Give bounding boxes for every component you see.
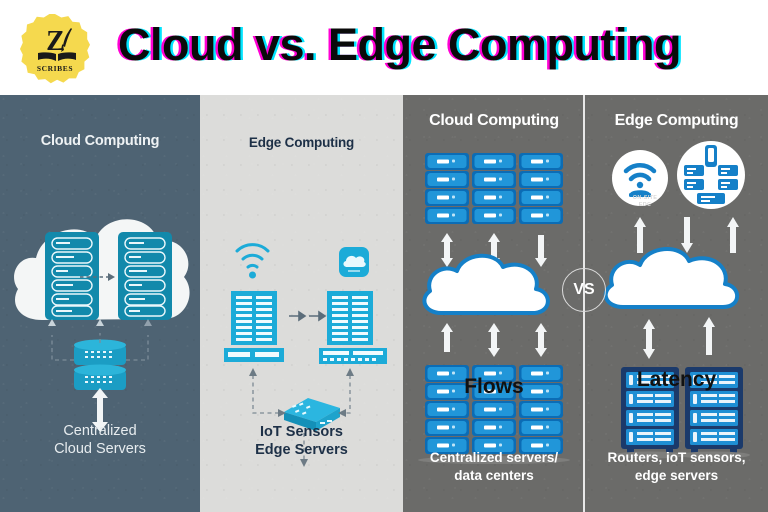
- panel-3-caption: Centralized servers/ data centers: [403, 449, 585, 484]
- panel-3-caption-line1: Centralized servers/: [403, 449, 585, 466]
- dashed-arrowheads: [48, 319, 152, 326]
- panel-4-caption: Routers, ioT sensors, edge servers: [585, 449, 768, 484]
- scribes-logo-badge: Z SCRIBES: [20, 14, 90, 84]
- panel-2-caption-line1: IoT Sensors: [200, 423, 403, 442]
- server-rack-left: [224, 291, 284, 362]
- edge-device-icon: [677, 141, 745, 209]
- panel-cloud-computing-illustration: Cloud Computing: [0, 95, 200, 512]
- server-rack-left: [45, 232, 99, 320]
- flows-cloud-label: Flows: [403, 375, 585, 399]
- server-rack-right: [118, 232, 172, 320]
- cloud-square-icon: [339, 247, 369, 277]
- upper-flow-arrows: [634, 217, 739, 253]
- panel-strip: Cloud Computing: [0, 95, 768, 512]
- panel-2-caption-line2: Edge Servers: [200, 441, 403, 460]
- top-db-stack-2: [472, 153, 516, 224]
- open-book-icon: [37, 52, 77, 61]
- wifi-icon: [237, 245, 268, 279]
- top-db-stack-3: [519, 153, 563, 224]
- server-rack-right: [319, 291, 387, 364]
- latency-cloud: [606, 249, 737, 307]
- panel-3-caption-line2: data centers: [403, 467, 585, 484]
- panel-4-caption-line1: Routers, ioT sensors,: [585, 449, 768, 466]
- latency-cloud-label: Latency: [585, 368, 768, 392]
- on-site-edc-line2: EDC: [615, 202, 675, 209]
- panel-1-caption-line2: Cloud Servers: [0, 440, 200, 459]
- on-site-edc-line1: ON-SITE: [615, 195, 675, 202]
- top-db-stack-1: [425, 153, 469, 224]
- panel-1-caption: Centralized Cloud Servers: [0, 422, 200, 459]
- panel-4-caption-line2: edge servers: [585, 467, 768, 484]
- header: Z SCRIBES Cloud vs. Edge Computing: [0, 0, 768, 95]
- logo-wordmark: SCRIBES: [20, 64, 90, 73]
- panel-edge-latency-diagram: Edge Computing: [585, 95, 768, 512]
- bottom-flow-arrows: [441, 323, 547, 357]
- transfer-arrows: [289, 312, 325, 320]
- flows-cloud: [424, 256, 547, 313]
- lower-flow-arrows: [643, 317, 715, 359]
- page-title: Cloud vs. Edge Computing: [118, 14, 681, 76]
- panel-2-caption: IoT Sensors Edge Servers: [200, 423, 403, 460]
- on-site-edc-label: ON-SITE EDC: [615, 195, 675, 210]
- quill-pen-icon: [58, 27, 74, 53]
- vs-badge: VS: [562, 268, 606, 312]
- infographic-page: Z SCRIBES Cloud vs. Edge Computing Cloud…: [0, 0, 768, 512]
- database-cylinder: [74, 340, 126, 391]
- panel-1-caption-line1: Centralized: [0, 422, 200, 441]
- panel-cloud-flows-diagram: Cloud Computing: [403, 95, 585, 512]
- panel-edge-computing-illustration: Edge Computing: [200, 95, 403, 512]
